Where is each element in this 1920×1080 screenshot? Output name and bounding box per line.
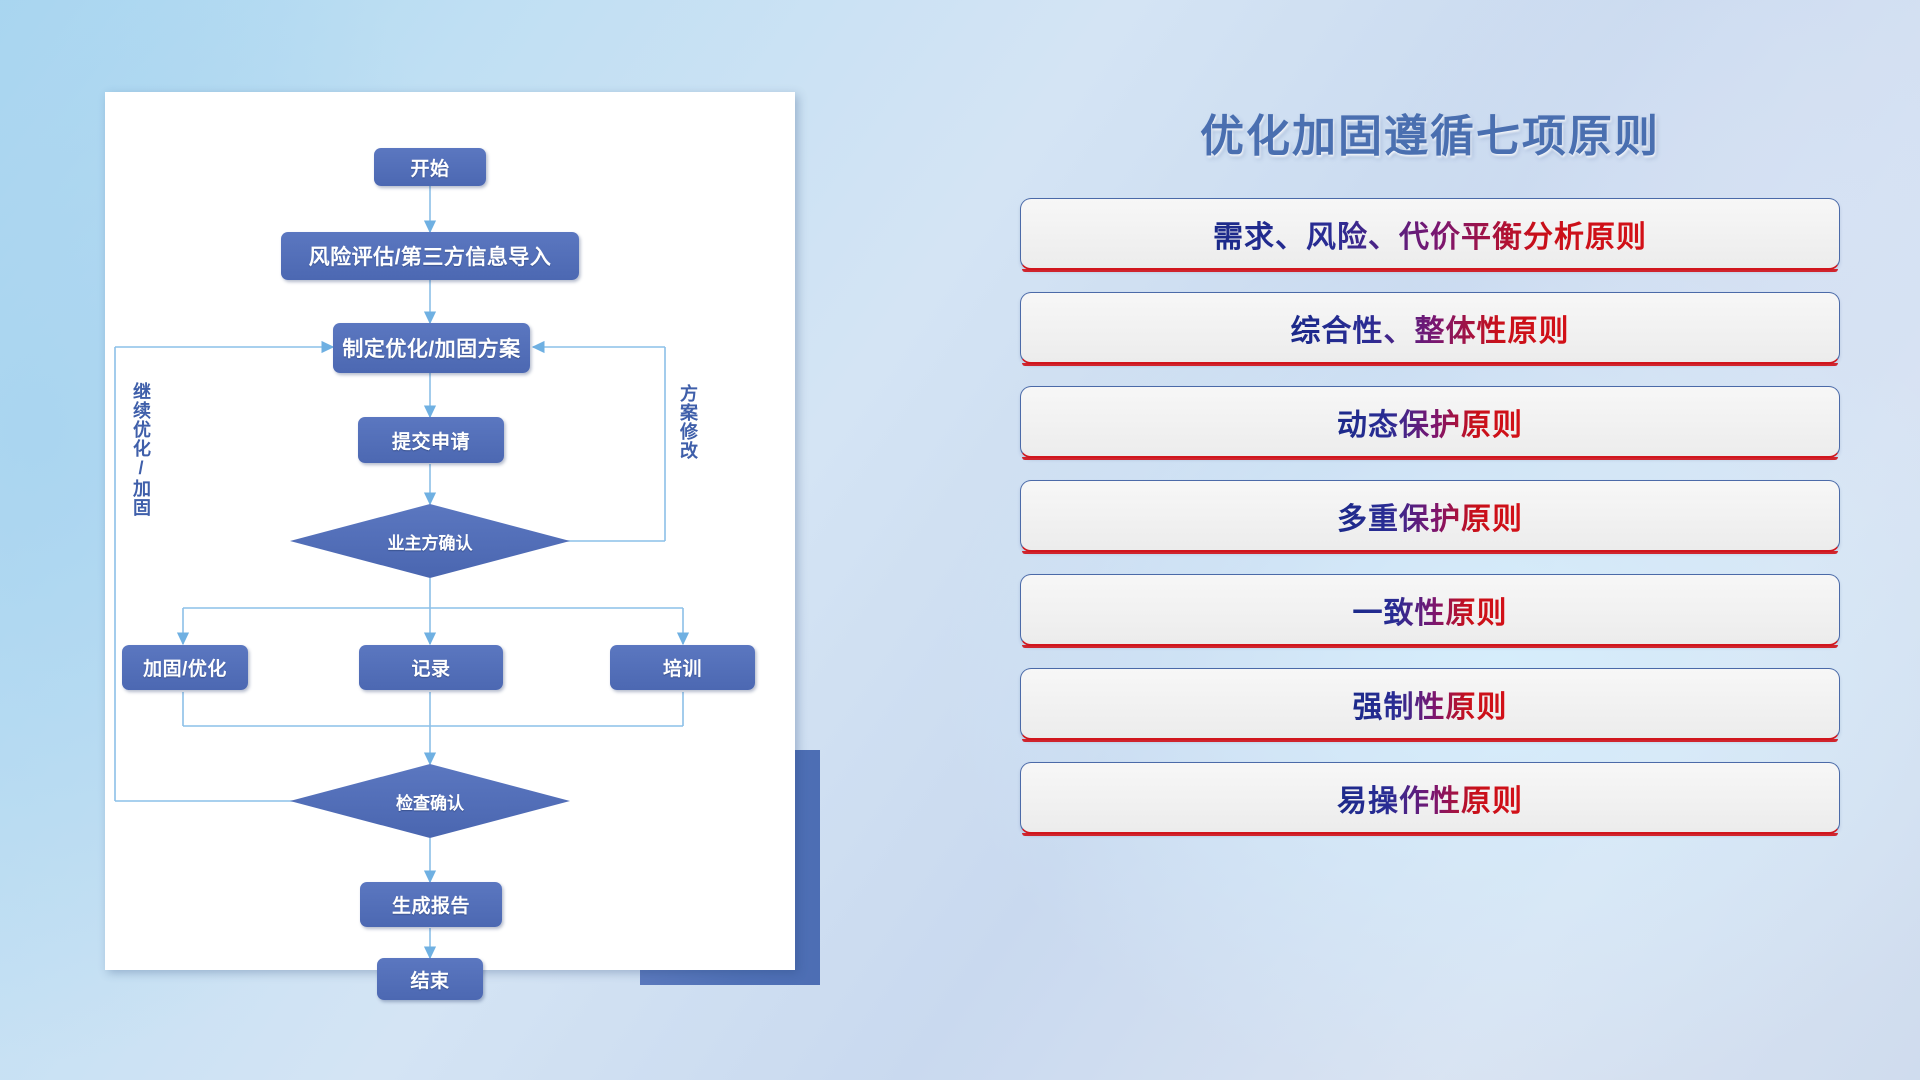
- principle-item-label: 强制性原则: [1353, 682, 1508, 726]
- flow-node-training[interactable]: 培训: [610, 645, 755, 690]
- principle-item[interactable]: 需求、风险、代价平衡分析原则: [1020, 198, 1840, 270]
- flow-node-end-label: 结束: [410, 966, 449, 993]
- slide-canvas: 开始 风险评估/第三方信息导入 制定优化/加固方案 提交申请 业主方确认 加固/…: [0, 0, 1920, 1080]
- flow-node-submit-application[interactable]: 提交申请: [358, 417, 504, 463]
- flow-node-start-label: 开始: [410, 154, 449, 181]
- panel-title: 优化加固遵循七项原则: [1020, 100, 1840, 164]
- flow-node-submit-application-label: 提交申请: [392, 427, 470, 454]
- flowchart-card: 开始 风险评估/第三方信息导入 制定优化/加固方案 提交申请 业主方确认 加固/…: [105, 92, 795, 970]
- flow-node-plan-label: 制定优化/加固方案: [342, 333, 520, 363]
- flow-node-start[interactable]: 开始: [374, 148, 486, 186]
- flow-decision-owner-confirmation[interactable]: 业主方确认: [290, 504, 570, 578]
- edge-label-continue-optimize: 继续优化/加固: [132, 382, 150, 517]
- flow-node-generate-report-label: 生成报告: [392, 891, 470, 918]
- principle-item-label: 综合性、整体性原则: [1291, 306, 1570, 350]
- flow-decision-check-confirmation-label: 检查确认: [396, 789, 464, 814]
- principle-item-label: 动态保护原则: [1337, 400, 1523, 444]
- principle-item[interactable]: 强制性原则: [1020, 668, 1840, 740]
- flow-node-training-label: 培训: [663, 654, 702, 681]
- flow-decision-owner-confirmation-label: 业主方确认: [388, 529, 473, 554]
- principle-item[interactable]: 多重保护原则: [1020, 480, 1840, 552]
- flow-node-reinforce-optimize-label: 加固/优化: [143, 654, 227, 681]
- principle-item[interactable]: 动态保护原则: [1020, 386, 1840, 458]
- flow-node-generate-report[interactable]: 生成报告: [360, 882, 502, 927]
- principle-item-label: 需求、风险、代价平衡分析原则: [1213, 212, 1647, 256]
- flow-node-end[interactable]: 结束: [377, 958, 483, 1000]
- principles-panel: 优化加固遵循七项原则 需求、风险、代价平衡分析原则 综合性、整体性原则 动态保护…: [1020, 100, 1840, 1000]
- flow-node-reinforce-optimize[interactable]: 加固/优化: [122, 645, 248, 690]
- flow-node-risk-assessment-label: 风险评估/第三方信息导入: [309, 241, 552, 271]
- principle-item-label: 多重保护原则: [1337, 494, 1523, 538]
- principle-item-label: 易操作性原则: [1337, 776, 1523, 820]
- flow-node-risk-assessment[interactable]: 风险评估/第三方信息导入: [281, 232, 579, 280]
- flow-node-record-label: 记录: [411, 654, 450, 681]
- principle-item[interactable]: 一致性原则: [1020, 574, 1840, 646]
- principle-item[interactable]: 综合性、整体性原则: [1020, 292, 1840, 364]
- principle-list: 需求、风险、代价平衡分析原则 综合性、整体性原则 动态保护原则 多重保护原则 一…: [1020, 198, 1840, 834]
- flow-node-plan[interactable]: 制定优化/加固方案: [333, 323, 530, 373]
- principle-item-label: 一致性原则: [1353, 588, 1508, 632]
- flow-node-record[interactable]: 记录: [359, 645, 503, 690]
- principle-item[interactable]: 易操作性原则: [1020, 762, 1840, 834]
- edge-label-plan-revision: 方案修改: [679, 384, 697, 460]
- flow-decision-check-confirmation[interactable]: 检查确认: [290, 764, 570, 838]
